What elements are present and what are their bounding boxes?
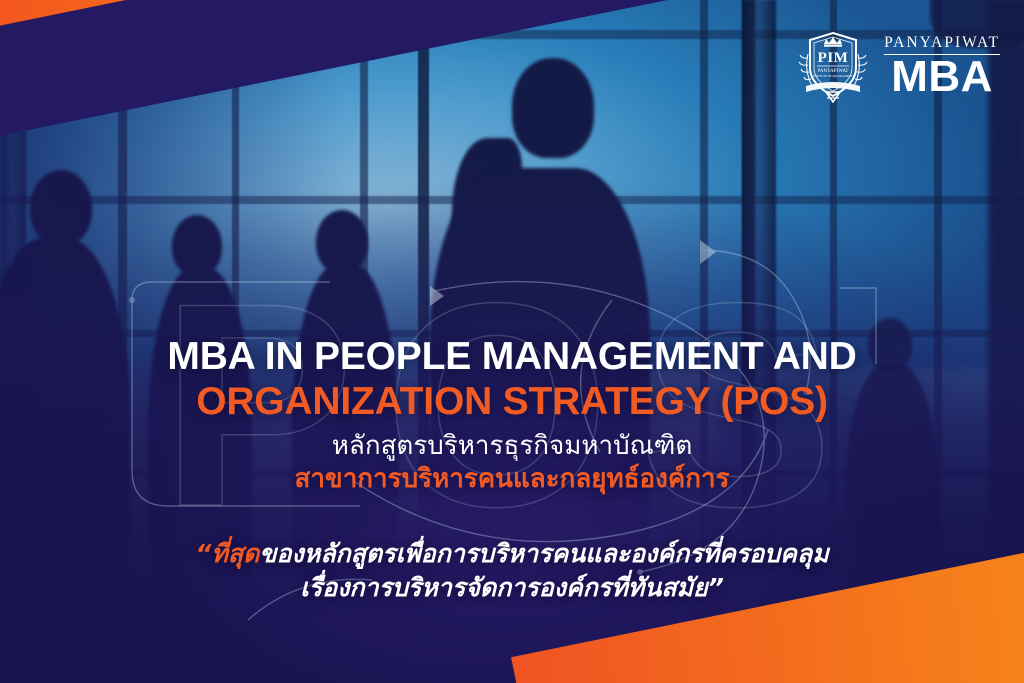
tagline-line-2: เรื่องการบริหารจัดการองค์กรที่ทันสมัย” [195,571,828,605]
tagline-quote: “ที่สุดของหลักสูตรเพื่อการบริหารคนและองค… [195,537,828,605]
tagline-highlight: ที่สุด [211,539,259,568]
tagline-line2-text: เรื่องการบริหารจัดการองค์กรที่ทันสมัย [300,573,707,602]
title-thai-line1: หลักสูตรบริหารธุรกิจมหาบัณฑิต [332,431,692,462]
headline-content: MBA IN PEOPLE MANAGEMENT AND ORGANIZATIO… [0,0,1024,683]
tagline-line-1: “ที่สุดของหลักสูตรเพื่อการบริหารคนและองค… [195,537,828,571]
tagline-line1-rest: ของหลักสูตรเพื่อการบริหารคนและองค์กรที่ค… [259,539,828,568]
title-thai-line2: สาขาการบริหารคนและกลยุทธ์องค์การ [294,464,729,495]
title-english-line2: ORGANIZATION STRATEGY (POS) [196,381,828,423]
promotional-banner: POS [0,0,1024,683]
title-english-line1: MBA IN PEOPLE MANAGEMENT AND [167,336,856,378]
tagline-open-quote: “ [195,539,211,568]
tagline-close-quote: ” [708,573,724,602]
